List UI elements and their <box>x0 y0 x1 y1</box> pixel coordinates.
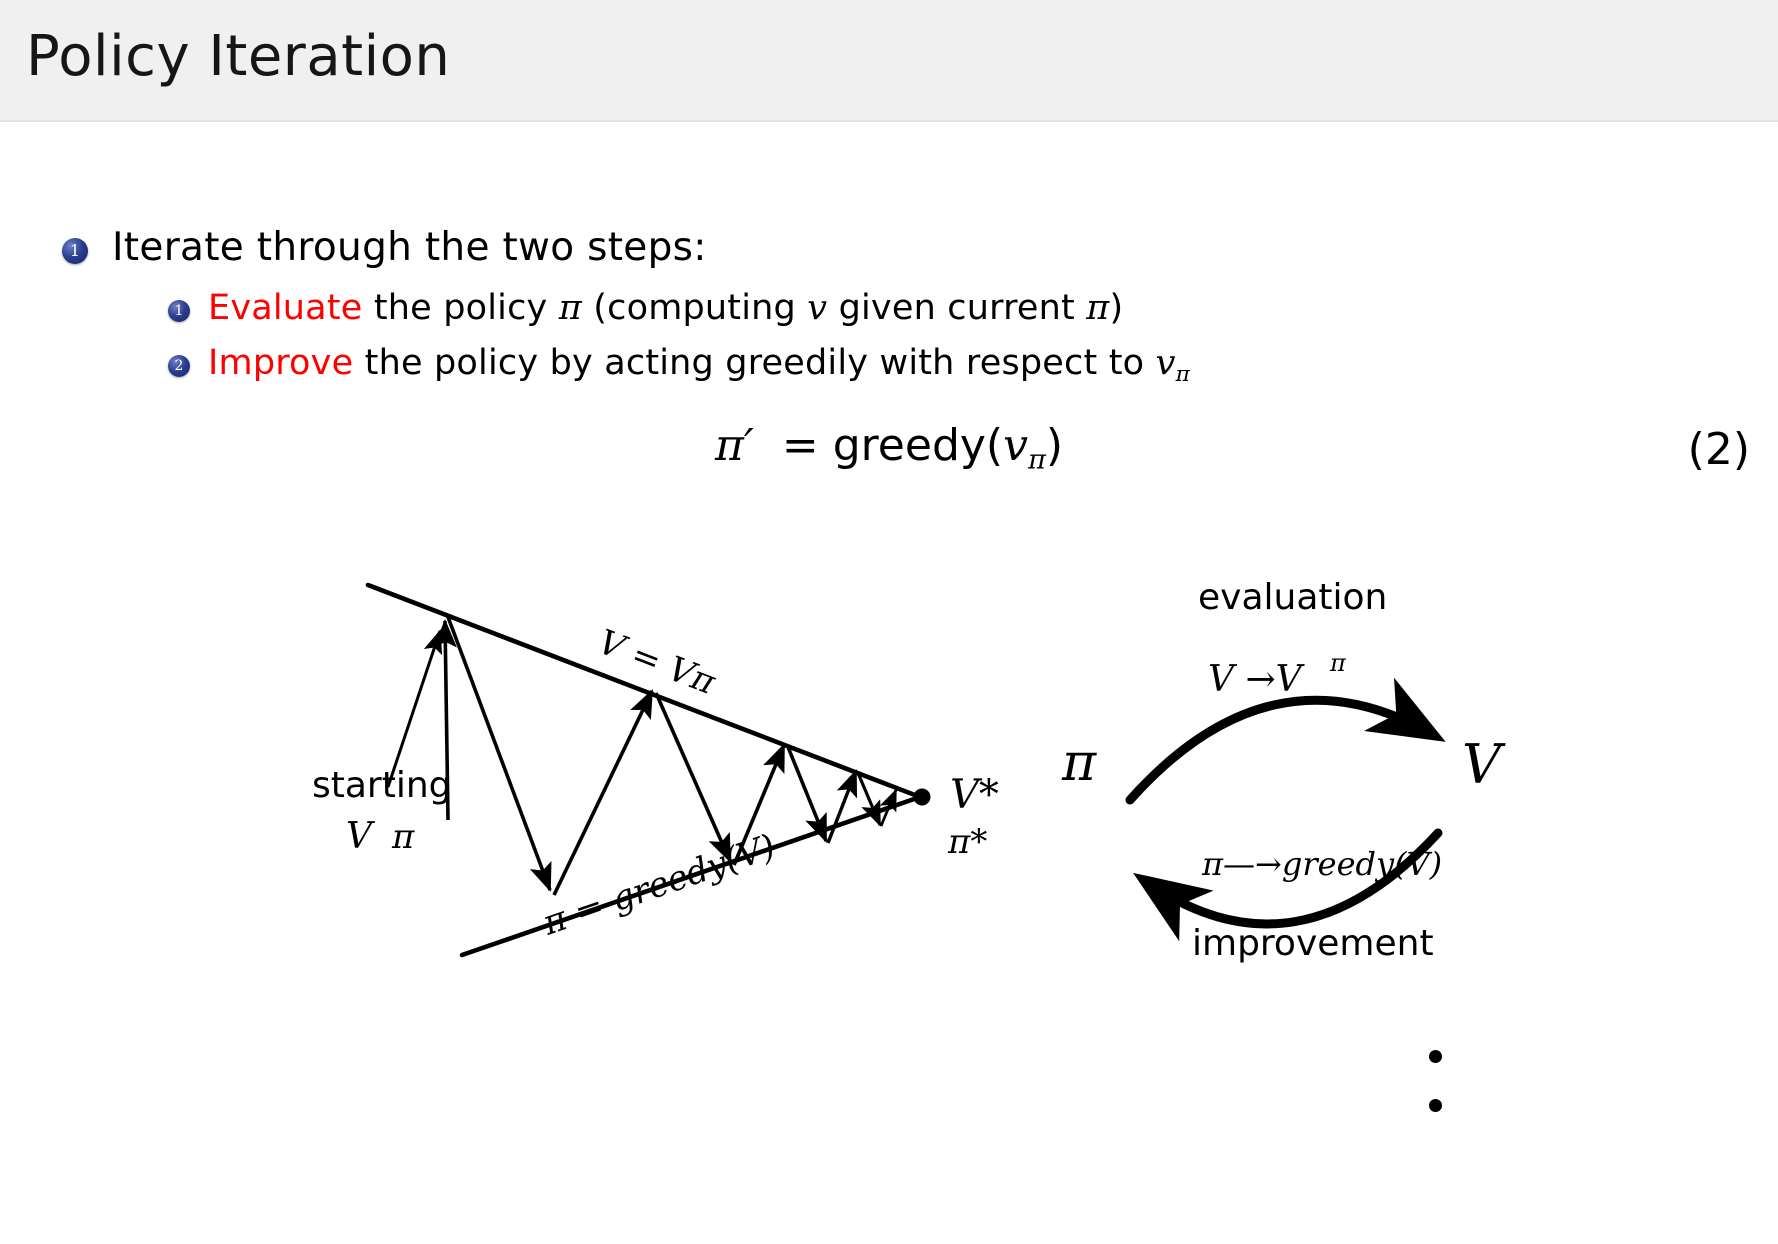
v-symbol: v <box>807 288 827 328</box>
pi-symbol: π <box>559 288 582 328</box>
svg-text:π: π <box>1329 649 1347 677</box>
figure-left-top-line-label: V = Vπ <box>593 622 721 703</box>
slide-header: Policy Iteration <box>0 0 1778 122</box>
figure-right-improvement-formula: π—→greedy(V) <box>1201 845 1442 883</box>
figure-right-evaluation-formula: V →V π <box>1208 649 1347 700</box>
equation-equals: = <box>782 420 819 471</box>
equation-number: (2) <box>1688 424 1750 475</box>
v-symbol: v <box>1156 343 1176 383</box>
figure-right-evaluation-label: evaluation <box>1198 577 1387 618</box>
figure-left-starting-V: V <box>346 816 376 857</box>
equation-greedy-open: greedy( <box>833 420 1003 471</box>
figure-left-starting-label: starting <box>312 765 452 806</box>
dot-2 <box>1429 1099 1442 1112</box>
equation-pi-prime: π′ <box>715 420 754 471</box>
evaluate-text-a: the policy <box>363 288 559 328</box>
figure-left-starting-pi: π <box>391 817 415 857</box>
page-title: Policy Iteration <box>26 24 450 89</box>
generalized-policy-iteration-cycle: π V evaluation V →V π π—→greedy(V) impro… <box>1030 565 1590 1025</box>
figure-left-bottom-line-label: π = greedy(V) <box>537 827 781 944</box>
pi-subscript: π <box>1176 362 1190 387</box>
figure-left-optimal-V: V* <box>950 772 999 818</box>
evaluate-text-c: given current <box>827 288 1086 328</box>
svg-text:π—→greedy(V): π—→greedy(V) <box>1201 845 1442 883</box>
equation-v: v <box>1003 420 1028 471</box>
evaluate-text-d: ) <box>1109 288 1123 328</box>
list-item-iterate: 1 Iterate through the two steps: <box>62 225 707 270</box>
figure-right-node-V: V <box>1462 733 1506 796</box>
evaluate-text-b: (computing <box>582 288 807 328</box>
continuation-dots <box>1415 1050 1455 1148</box>
list-item-evaluate-label: Evaluate the policy π (computing v given… <box>208 288 1123 328</box>
list-item-improve-label: Improve the policy by acting greedily wi… <box>208 343 1190 387</box>
bullet-number-icon: 1 <box>168 300 190 322</box>
accent-word-evaluate: Evaluate <box>208 288 363 328</box>
policy-iteration-convergence-diagram: starting V π V = Vπ π = greedy(V) V* π* <box>300 565 1040 995</box>
figure-left-optimal-pi: π* <box>947 822 987 862</box>
equation-greedy: π′ =greedy(vπ) <box>0 420 1778 476</box>
bullet-number-icon: 1 <box>62 238 88 264</box>
equation-pi-subscript: π <box>1028 445 1046 476</box>
dot-1 <box>1429 1050 1442 1063</box>
list-item-label: Iterate through the two steps: <box>112 225 707 270</box>
figure-right-improvement-label: improvement <box>1192 923 1434 964</box>
pi-symbol-2: π <box>1086 288 1109 328</box>
improve-text-a: the policy by acting greedily with respe… <box>353 343 1155 383</box>
list-item-evaluate: 1 Evaluate the policy π (computing v giv… <box>168 288 1123 328</box>
list-item-improve: 2 Improve the policy by acting greedily … <box>168 343 1190 387</box>
svg-text:V →V: V →V <box>1208 659 1306 700</box>
accent-word-improve: Improve <box>208 343 353 383</box>
bullet-number-icon: 2 <box>168 355 190 377</box>
figure-right-node-pi: π <box>1061 733 1097 793</box>
equation-close-paren: ) <box>1046 420 1063 471</box>
